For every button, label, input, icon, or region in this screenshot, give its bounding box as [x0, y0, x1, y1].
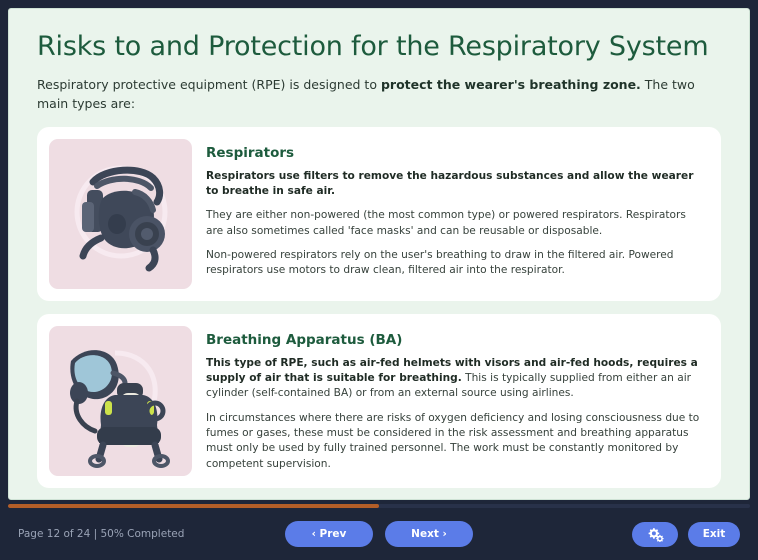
exit-button[interactable]: Exit — [688, 522, 740, 547]
respirators-paragraph-2: Non-powered respirators rely on the user… — [206, 248, 703, 279]
prev-button[interactable]: ‹ Prev — [285, 521, 373, 547]
content-card-breathing-apparatus: Breathing Apparatus (BA) This type of RP… — [37, 314, 721, 488]
footer-actions: Exit — [632, 522, 740, 547]
respirators-text-block: Respirators Respirators use filters to r… — [206, 139, 709, 289]
respirators-lead-bold: Respirators use filters to remove the ha… — [206, 170, 693, 197]
subtitle-text-before: Respiratory protective equipment (RPE) i… — [37, 77, 381, 92]
gears-icon — [647, 527, 664, 542]
breathing-apparatus-text-block: Breathing Apparatus (BA) This type of RP… — [206, 326, 709, 476]
slide-content: Risks to and Protection for the Respirat… — [8, 8, 750, 500]
ba-lead-paragraph: This type of RPE, such as air-fed helmet… — [206, 356, 703, 402]
respirators-paragraph-1: They are either non-powered (the most co… — [206, 208, 703, 239]
page-status-text: Page 12 of 24 | 50% Completed — [18, 528, 184, 540]
respirator-image-tile — [49, 139, 192, 289]
subtitle-text-bold: protect the wearer's breathing zone. — [381, 77, 641, 92]
breathing-apparatus-icon — [55, 331, 187, 471]
ba-paragraph-1: In circumstances where there are risks o… — [206, 411, 703, 472]
card-heading-breathing-apparatus: Breathing Apparatus (BA) — [206, 332, 703, 348]
card-heading-respirators: Respirators — [206, 145, 703, 161]
footer-bar: Page 12 of 24 | 50% Completed ‹ Prev Nex… — [0, 508, 758, 560]
content-card-respirators: Respirators Respirators use filters to r… — [37, 127, 721, 301]
next-button[interactable]: Next › — [385, 521, 473, 547]
settings-button[interactable] — [632, 522, 678, 547]
app-frame: Risks to and Protection for the Respirat… — [0, 0, 758, 560]
page-title: Risks to and Protection for the Respirat… — [37, 31, 721, 62]
half-face-respirator-icon — [57, 146, 185, 282]
breathing-apparatus-image-tile — [49, 326, 192, 476]
respirators-lead-paragraph: Respirators use filters to remove the ha… — [206, 169, 703, 200]
slide-subtitle: Respiratory protective equipment (RPE) i… — [37, 76, 697, 114]
